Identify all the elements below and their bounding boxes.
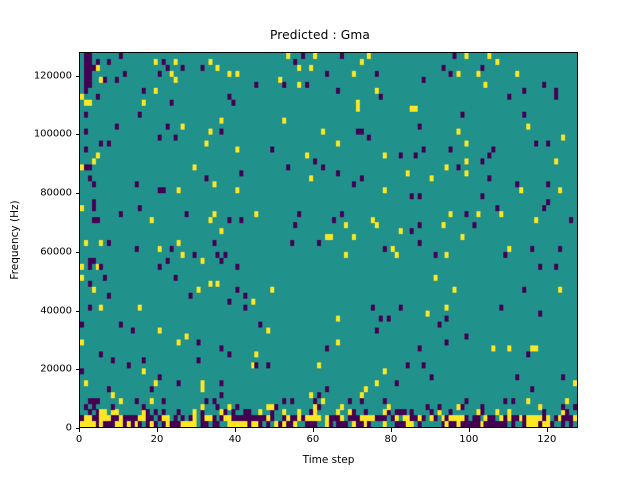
x-tick-mark bbox=[547, 428, 548, 432]
y-tick-mark bbox=[76, 311, 80, 312]
x-tick-mark bbox=[157, 428, 158, 432]
y-tick-label: 100000 bbox=[34, 129, 72, 140]
matplotlib-figure: Predicted : Gma 020406080100120 02000040… bbox=[0, 0, 640, 480]
y-tick-mark bbox=[76, 428, 80, 429]
y-tick-label: 80000 bbox=[40, 188, 72, 199]
page-title: Predicted : Gma bbox=[0, 28, 640, 42]
x-tick-label: 40 bbox=[229, 434, 242, 445]
heatmap-canvas bbox=[80, 53, 577, 427]
x-tick-label: 120 bbox=[537, 434, 556, 445]
x-tick-mark bbox=[313, 428, 314, 432]
y-tick-mark bbox=[76, 369, 80, 370]
x-tick-mark bbox=[391, 428, 392, 432]
x-tick-label: 60 bbox=[307, 434, 320, 445]
y-tick-mark bbox=[76, 252, 80, 253]
heatmap-axes bbox=[79, 52, 578, 428]
y-axis-label: Frequency (Hz) bbox=[9, 200, 21, 279]
x-tick-label: 20 bbox=[151, 434, 164, 445]
y-tick-mark bbox=[76, 76, 80, 77]
y-tick-label: 40000 bbox=[40, 305, 72, 316]
y-tick-label: 0 bbox=[66, 423, 72, 434]
x-tick-label: 80 bbox=[385, 434, 398, 445]
x-tick-label: 0 bbox=[76, 434, 82, 445]
x-axis-label: Time step bbox=[79, 454, 578, 466]
y-tick-label: 20000 bbox=[40, 364, 72, 375]
y-tick-mark bbox=[76, 134, 80, 135]
y-tick-mark bbox=[76, 193, 80, 194]
x-tick-mark bbox=[79, 428, 80, 432]
x-tick-mark bbox=[469, 428, 470, 432]
y-tick-label: 120000 bbox=[34, 70, 72, 81]
x-tick-label: 100 bbox=[459, 434, 478, 445]
x-tick-mark bbox=[235, 428, 236, 432]
y-tick-label: 60000 bbox=[40, 246, 72, 257]
